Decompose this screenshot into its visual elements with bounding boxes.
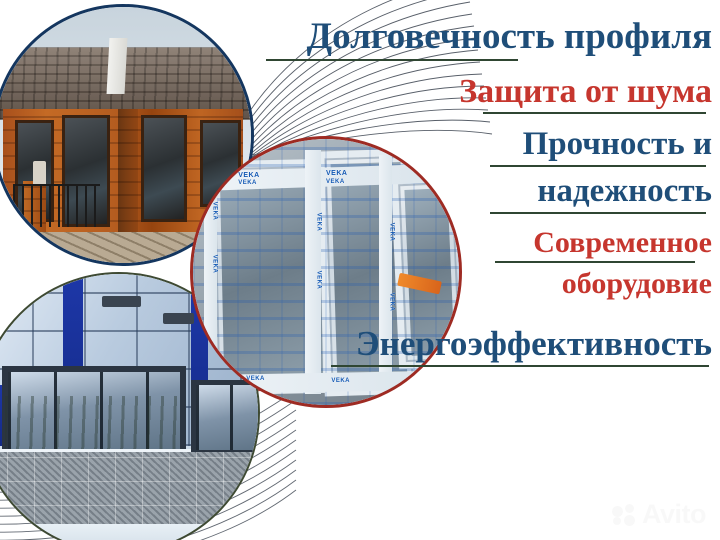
snow-ground [0, 524, 258, 540]
headline-line-1: Долговечность профиля [250, 18, 712, 56]
facade-vent [102, 296, 141, 307]
headline-line-3-group: Прочность и [250, 128, 712, 167]
headline-rule-7 [331, 365, 709, 367]
veka-logo-text: VEKA [331, 378, 350, 384]
film-strip [209, 371, 427, 393]
poster-canvas: VEKA VEKA VEKA VEKA VEKA VEKA VEKA VEKA … [0, 0, 720, 540]
headline-line-4: надежность [250, 175, 712, 209]
headline-line-4-group: надежность [250, 175, 712, 214]
roof-ridge [106, 38, 127, 94]
veka-logo-text: VEKA [246, 376, 265, 382]
headline-line-7-group: Энергоэффективность [250, 326, 712, 367]
wall-shadow [118, 109, 138, 247]
avito-watermark: Avito [612, 501, 706, 528]
granite-base [0, 452, 258, 530]
headline-line-2-group: Защита от шума [250, 75, 712, 115]
headline-line-1-group: Долговечность профиля [250, 18, 712, 61]
headline-block: Долговечность профиля Защита от шума Про… [250, 18, 712, 367]
house-window [141, 115, 187, 223]
balcony-railing [13, 184, 100, 227]
facade-vent [163, 313, 194, 324]
headline-line-5-group: Современное [250, 228, 712, 264]
headline-line-6: оборудовие [250, 269, 712, 300]
headline-line-5: Современное [250, 228, 712, 259]
headline-line-7: Энергоэффективность [250, 326, 712, 362]
tree-reflection [5, 396, 183, 449]
avito-dots-icon [612, 504, 638, 526]
headline-line-6-group: оборудовие [250, 269, 712, 300]
avito-wordmark: Avito [642, 501, 706, 528]
veka-logo-text: VEKA [212, 202, 218, 221]
wall-lamp [33, 161, 46, 184]
headline-line-2: Защита от шума [250, 75, 712, 110]
headline-line-3: Прочность и [250, 128, 712, 162]
veka-logo-text: VEKA [212, 255, 218, 274]
